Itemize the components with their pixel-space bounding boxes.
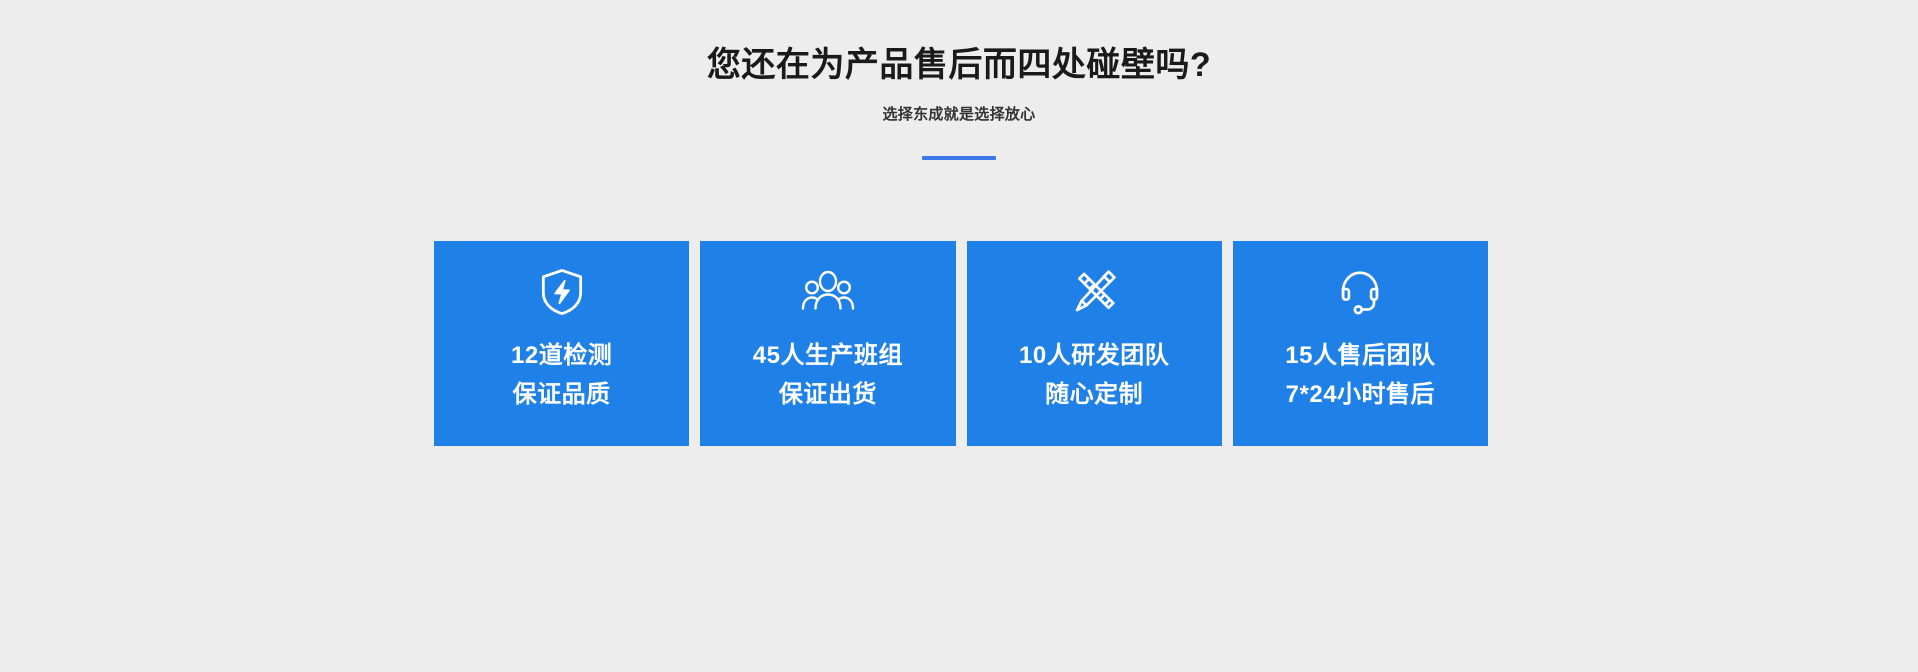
feature-card-line-2: 7*24小时售后 [1285, 375, 1435, 414]
people-group-icon [796, 260, 860, 324]
feature-card-rd-team[interactable]: 10人研发团队 随心定制 [967, 241, 1222, 446]
feature-card-line-1: 45人生产班组 [753, 336, 903, 375]
feature-card-text: 10人研发团队 随心定制 [1019, 336, 1169, 414]
feature-card-text: 45人生产班组 保证出货 [753, 336, 903, 414]
headset-icon [1328, 260, 1392, 324]
page-title: 您还在为产品售后而四处碰壁吗? [0, 0, 1918, 87]
shield-lightning-icon [530, 260, 594, 324]
feature-card-after-sales-team[interactable]: 15人售后团队 7*24小时售后 [1233, 241, 1488, 446]
feature-card-line-2: 保证出货 [753, 375, 903, 414]
section-subtitle: 选择东成就是选择放心 [0, 87, 1918, 125]
feature-section: 您还在为产品售后而四处碰壁吗? 选择东成就是选择放心 12道检测 保证品质 [0, 0, 1918, 672]
feature-card-line-2: 保证品质 [511, 375, 612, 414]
pencil-ruler-icon [1062, 260, 1126, 324]
feature-card-quality-inspection[interactable]: 12道检测 保证品质 [434, 241, 689, 446]
feature-card-text: 15人售后团队 7*24小时售后 [1285, 336, 1435, 414]
section-header: 您还在为产品售后而四处碰壁吗? 选择东成就是选择放心 [0, 0, 1918, 151]
feature-card-line-1: 15人售后团队 [1285, 336, 1435, 375]
divider-wrapper [0, 125, 1918, 151]
feature-card-production-team[interactable]: 45人生产班组 保证出货 [700, 241, 955, 446]
feature-card-line-2: 随心定制 [1019, 375, 1169, 414]
feature-card-list: 12道检测 保证品质 45人生产班组 保证出货 [434, 241, 1488, 446]
feature-card-line-1: 10人研发团队 [1019, 336, 1169, 375]
feature-card-text: 12道检测 保证品质 [511, 336, 612, 414]
title-divider [922, 156, 996, 160]
feature-card-line-1: 12道检测 [511, 336, 612, 375]
